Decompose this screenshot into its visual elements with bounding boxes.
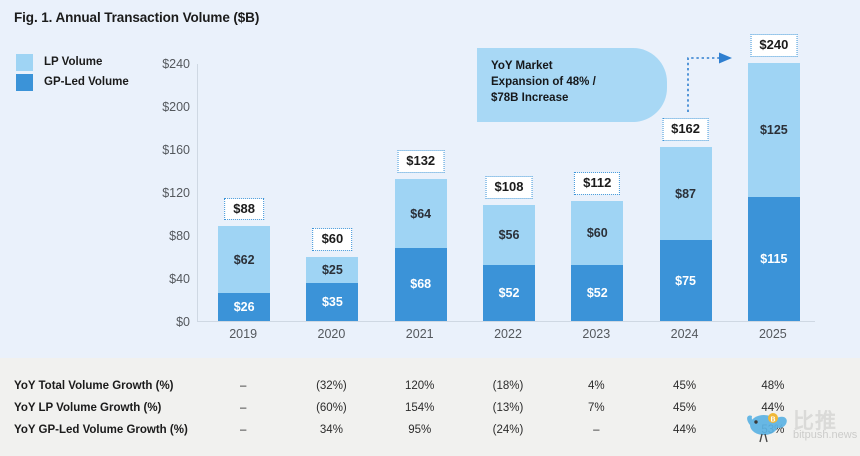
bar-total-badge: $112 [574, 172, 620, 195]
figure-root: Fig. 1. Annual Transaction Volume ($B) L… [0, 0, 860, 456]
table-cell: 7% [570, 402, 622, 414]
x-axis: 2019202020212022202320242025 [197, 327, 815, 351]
svg-text:B: B [770, 417, 775, 424]
bar-total-badge: $132 [397, 150, 444, 173]
table-cell: (60%) [305, 402, 357, 414]
table-cell: 45% [659, 380, 711, 392]
bar-group[interactable]: $75$87$162 [660, 147, 712, 321]
bar-segment-label: $60 [587, 226, 608, 240]
table-cell: 154% [394, 402, 446, 414]
bar-segment-gp-led[interactable]: $52 [571, 265, 623, 321]
bar-total-badge: $88 [224, 198, 264, 221]
legend-item-label: LP Volume [44, 56, 102, 68]
table-row: YoY GP-Led Volume Growth (%)–34%95%(24%)… [0, 424, 860, 446]
bar-segment-lp[interactable]: $56 [483, 205, 535, 265]
bar-segment-lp[interactable]: $125 [748, 63, 800, 197]
table-row: YoY Total Volume Growth (%)–(32%)120%(18… [0, 380, 860, 402]
bar-segment-gp-led[interactable]: $75 [660, 240, 712, 321]
x-axis-tick-label: 2020 [305, 327, 357, 341]
bar-segment-label: $52 [587, 286, 608, 300]
table-row-label: YoY Total Volume Growth (%) [14, 380, 174, 392]
watermark-url-text: bitpush.news [793, 429, 857, 441]
bar-total-badge: $60 [313, 228, 353, 251]
bar-segment-label: $25 [322, 263, 343, 277]
bar-segment-gp-led[interactable]: $52 [483, 265, 535, 321]
bar-group[interactable]: $35$25$60 [306, 257, 358, 322]
table-row: YoY LP Volume Growth (%)–(60%)154%(13%)7… [0, 402, 860, 424]
bar-total-badge: $108 [486, 176, 533, 199]
bar-segment-gp-led[interactable]: $26 [218, 293, 270, 321]
bar-segment-label: $64 [410, 207, 431, 221]
table-cell: (13%) [482, 402, 534, 414]
bar-segment-label: $62 [234, 253, 255, 267]
y-axis-tick-label: $160 [162, 143, 190, 157]
legend-item-label: GP-Led Volume [44, 76, 129, 88]
growth-table: YoY Total Volume Growth (%)–(32%)120%(18… [0, 358, 860, 456]
table-cell: (32%) [305, 380, 357, 392]
table-cell: (18%) [482, 380, 534, 392]
x-axis-tick-label: 2021 [394, 327, 446, 341]
chart-legend: LP VolumeGP-Led Volume [16, 52, 129, 92]
bar-total-badge: $240 [750, 34, 797, 57]
table-cell: – [217, 402, 269, 414]
bar-group[interactable]: $52$56$108 [483, 205, 535, 321]
bar-segment-label: $35 [322, 295, 343, 309]
y-axis-tick-label: $120 [162, 186, 190, 200]
bar-segment-label: $52 [499, 286, 520, 300]
bar-total-badge: $162 [662, 118, 709, 141]
watermark: B 比推 bitpush.news [745, 405, 860, 451]
y-axis-tick-label: $40 [169, 272, 190, 286]
bar-segment-lp[interactable]: $87 [660, 147, 712, 241]
callout-text: YoY Market Expansion of 48% / $78B Incre… [491, 59, 653, 107]
table-cell: 4% [570, 380, 622, 392]
bar-segment-label: $115 [760, 252, 787, 266]
bar-segment-gp-led[interactable]: $68 [395, 248, 447, 321]
table-cell: (24%) [482, 424, 534, 436]
y-axis-tick-label: $240 [162, 57, 190, 71]
bar-segment-label: $125 [760, 123, 788, 137]
table-cell: – [570, 424, 622, 436]
table-row-label: YoY GP-Led Volume Growth (%) [14, 424, 188, 436]
x-axis-tick-label: 2022 [482, 327, 534, 341]
bar-segment-lp[interactable]: $25 [306, 257, 358, 284]
x-axis-tick-label: 2025 [747, 327, 799, 341]
bar-segment-lp[interactable]: $60 [571, 201, 623, 266]
bar-group[interactable]: $115$125$240 [748, 63, 800, 321]
table-cell: 34% [305, 424, 357, 436]
legend-swatch-icon [16, 74, 33, 91]
bar-segment-label: $87 [675, 187, 696, 201]
bar-segment-label: $26 [234, 300, 255, 314]
bar-segment-lp[interactable]: $64 [395, 179, 447, 248]
bar-segment-gp-led[interactable]: $35 [306, 283, 358, 321]
bar-group[interactable]: $26$62$88 [218, 226, 270, 321]
bar-segment-label: $75 [675, 274, 696, 288]
x-axis-tick-label: 2019 [217, 327, 269, 341]
table-cell: 95% [394, 424, 446, 436]
callout-box: YoY Market Expansion of 48% / $78B Incre… [477, 48, 667, 122]
table-cell: – [217, 380, 269, 392]
bar-segment-label: $68 [410, 277, 431, 291]
table-cell: 45% [659, 402, 711, 414]
bar-group[interactable]: $52$60$112 [571, 201, 623, 321]
bar-segment-gp-led[interactable]: $115 [748, 197, 800, 321]
bar-segment-lp[interactable]: $62 [218, 226, 270, 293]
table-row-label: YoY LP Volume Growth (%) [14, 402, 161, 414]
x-axis-tick-label: 2023 [570, 327, 622, 341]
y-axis-tick-label: $200 [162, 100, 190, 114]
bird-logo-icon: B [745, 405, 791, 445]
table-cell: – [217, 424, 269, 436]
table-cell: 120% [394, 380, 446, 392]
bar-segment-label: $56 [499, 228, 520, 242]
chart-panel: Fig. 1. Annual Transaction Volume ($B) L… [0, 0, 860, 358]
legend-lp-volume[interactable]: LP Volume [16, 52, 129, 72]
y-axis: $0$40$80$120$160$200$240 [140, 64, 190, 322]
x-axis-tick-label: 2024 [659, 327, 711, 341]
bar-group[interactable]: $68$64$132 [395, 179, 447, 321]
legend-gp-led-volume[interactable]: GP-Led Volume [16, 72, 129, 92]
y-axis-tick-label: $80 [169, 229, 190, 243]
table-cell: 48% [747, 380, 799, 392]
table-cell: 44% [659, 424, 711, 436]
y-axis-tick-label: $0 [176, 315, 190, 329]
legend-swatch-icon [16, 54, 33, 71]
page-title: Fig. 1. Annual Transaction Volume ($B) [14, 10, 259, 25]
callout-connector-arrow [686, 52, 738, 114]
